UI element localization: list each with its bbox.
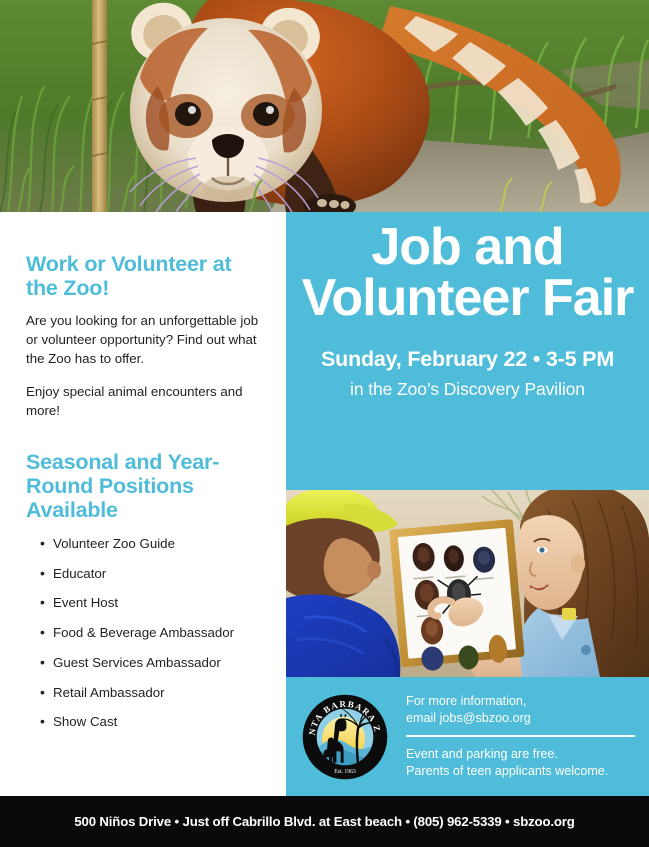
santa-barbara-zoo-logo: SANTA BARBARA ZOO Est. 1963 [302, 694, 388, 780]
contact-text-block: For more information, email jobs@sbzoo.o… [406, 693, 635, 781]
educator-child-photo [286, 490, 649, 677]
red-panda-photo [0, 0, 649, 212]
footer-address-text: 500 Niños Drive • Just off Cabrillo Blvd… [74, 814, 574, 829]
positions-list: Volunteer Zoo Guide Educator Event Host … [26, 535, 260, 731]
list-item: Event Host [26, 594, 260, 611]
list-item: Guest Services Ambassador [26, 654, 260, 671]
positions-heading: Seasonal and Year-Round Positions Availa… [26, 450, 260, 522]
poster-flyer: Work or Volunteer at the Zoo! Are you lo… [0, 0, 649, 847]
list-item: Volunteer Zoo Guide [26, 535, 260, 552]
contact-line-1: For more information, [406, 693, 635, 710]
event-location: in the Zoo’s Discovery Pavilion [286, 379, 649, 400]
note-line-2: Parents of teen applicants welcome. [406, 763, 635, 780]
note-line-1: Event and parking are free. [406, 746, 635, 763]
work-volunteer-heading: Work or Volunteer at the Zoo! [26, 252, 260, 300]
list-item: Food & Beverage Ambassador [26, 624, 260, 641]
contact-info-panel: SANTA BARBARA ZOO Est. 1963 For more inf… [286, 677, 649, 796]
event-date-time: Sunday, February 22 • 3-5 PM [286, 347, 649, 372]
event-title: Job and Volunteer Fair [286, 222, 649, 325]
left-content-column: Work or Volunteer at the Zoo! Are you lo… [0, 212, 286, 796]
list-item: Retail Ambassador [26, 684, 260, 701]
info-divider [406, 735, 635, 736]
intro-paragraph-1: Are you looking for an unforgettable job… [26, 312, 260, 369]
list-item: Educator [26, 565, 260, 582]
footer-bar: 500 Niños Drive • Just off Cabrillo Blvd… [0, 796, 649, 847]
logo-established-text: Est. 1963 [334, 768, 356, 774]
contact-line-2: email jobs@sbzoo.org [406, 710, 635, 727]
event-banner-panel: Job and Volunteer Fair Sunday, February … [286, 212, 649, 490]
intro-paragraph-2: Enjoy special animal encounters and more… [26, 383, 260, 421]
list-item: Show Cast [26, 713, 260, 730]
